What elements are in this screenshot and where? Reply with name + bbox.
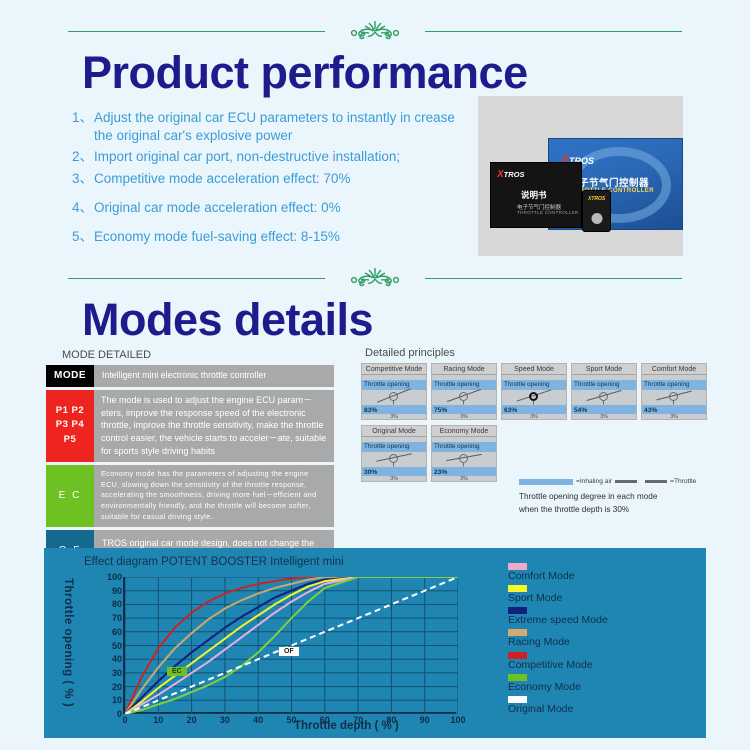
principle-card: Competitive ModeThrottle opening83%3%: [361, 363, 427, 420]
principle-card-title: Comfort Mode: [642, 364, 706, 375]
page-title: Product performance: [68, 50, 750, 95]
throttle-opening-percent: 23%: [434, 469, 447, 476]
legend-label: Economy Mode: [508, 681, 698, 694]
throttle-valve-icon: [599, 392, 608, 401]
mode-detailed-label: MODE DETAILED: [62, 349, 151, 361]
chart-curves: [125, 577, 458, 714]
bullet-number: 3、: [72, 170, 94, 188]
principle-cards: Competitive ModeThrottle opening83%3%Rac…: [361, 363, 707, 487]
chart-y-tick: 20: [112, 682, 122, 692]
principle-card: Economy ModeThrottle opening23%3%: [431, 425, 497, 482]
product-device-unit: XTROS: [582, 190, 611, 232]
throttle-opening-label: Throttle opening: [364, 443, 410, 450]
chart-annotation-ec: EC: [167, 667, 187, 676]
throttle-opening-percent: 83%: [364, 407, 377, 414]
chart-x-tick: 100: [450, 715, 465, 725]
throttle-opening-label: Throttle opening: [434, 443, 480, 450]
bullet-text: Competitive mode acceleration effect: 70…: [94, 170, 350, 188]
page-title-wrap: Product performance: [68, 50, 750, 95]
principle-card: Racing ModeThrottle opening75%3%: [431, 363, 497, 420]
chart-plot-area: 0102030405060708090100010203040506070809…: [123, 577, 456, 714]
chart-y-tick: 100: [107, 572, 122, 582]
mode-key-p-line1: P1 P2: [56, 404, 84, 419]
legend-label: Sport Mode: [508, 592, 698, 605]
legend-color-swatch-icon: [508, 585, 527, 592]
product-manual: XTROS 说明书 电子节气门控制器 THROTTLE CONTROLLER: [490, 162, 582, 228]
principle-card-body: Throttle opening23%3%: [432, 437, 496, 481]
chart-legend-item: Economy Mode: [508, 674, 698, 694]
principle-legend-row: =Inhaling air =Throttle: [519, 478, 734, 485]
throttle-depth-label: 3%: [460, 414, 468, 420]
throttle-label: =Throttle: [670, 478, 696, 485]
throttle-opening-percent: 54%: [574, 407, 587, 414]
principle-caption-line1: Throttle opening degree in each mode: [519, 490, 734, 503]
list-item: 1、 Adjust the original car ECU parameter…: [72, 109, 472, 145]
principle-legend: =Inhaling air =Throttle Throttle opening…: [519, 478, 734, 516]
chart-x-axis-label: Throttle depth ( % ): [294, 720, 399, 732]
manual-brand-logo: XTROS: [497, 169, 525, 180]
chart-x-tick: 30: [220, 715, 230, 725]
throttle-opening-label: Throttle opening: [574, 381, 620, 388]
chart-y-tick: 30: [112, 668, 122, 678]
chart-y-tick: 70: [112, 613, 122, 623]
principle-card-body: Throttle opening63%3%: [502, 375, 566, 419]
chart-x-tick: 20: [187, 715, 197, 725]
bullet-number: 5、: [72, 228, 94, 246]
principle-card-row-2: Original ModeThrottle opening30%3%Econom…: [361, 425, 707, 482]
chart-legend-item: Original Mode: [508, 696, 698, 716]
throttle-opening-percent: 63%: [504, 407, 517, 414]
throttle-valve-icon: [459, 392, 468, 401]
legend-color-swatch-icon: [508, 696, 527, 703]
chart-x-tick: 40: [253, 715, 263, 725]
principle-card-body: Throttle opening54%3%: [572, 375, 636, 419]
detailed-principles-label: Detailed principles: [365, 347, 455, 359]
throttle-valve-icon: [459, 454, 468, 463]
chart-y-tick: 60: [112, 627, 122, 637]
throttle-depth-label: 3%: [390, 414, 398, 420]
throttle-valve-icon: [389, 454, 398, 463]
throttle-opening-label: Throttle opening: [644, 381, 690, 388]
principle-card-title: Speed Mode: [502, 364, 566, 375]
box-title-cn: 电子节气门控制器: [569, 175, 678, 189]
list-item: 3、 Competitive mode acceleration effect:…: [72, 170, 472, 188]
inhaling-air-swatch-icon: [519, 479, 573, 485]
device-button-icon: [591, 213, 602, 224]
list-item: 4、 Original car mode acceleration effect…: [72, 199, 472, 217]
legend-label: Comfort Mode: [508, 570, 698, 583]
mode-value-mode: Intelligent mini electronic throttle con…: [94, 365, 334, 387]
chart-y-tick: 0: [117, 709, 122, 719]
table-row: E C Economy mode has the parameters of a…: [46, 465, 334, 527]
section-divider-top: [68, 18, 682, 42]
chart-y-axis-label: Throttle opening ( % ): [62, 578, 74, 714]
mode-key-mode: MODE: [46, 365, 94, 387]
chart-y-tick: 40: [112, 654, 122, 664]
principle-card-title: Competitive Mode: [362, 364, 426, 375]
chart-x-tick: 0: [122, 715, 127, 725]
mode-key-p-line3: P5: [56, 433, 84, 448]
principle-card: Comfort ModeThrottle opening43%3%: [641, 363, 707, 420]
principle-card-body: Throttle opening83%3%: [362, 375, 426, 419]
flourish-ornament-icon: [325, 18, 425, 46]
chart-legend-item: Competitive Mode: [508, 652, 698, 672]
chart-y-tick: 10: [112, 695, 122, 705]
throttle-opening-label: Throttle opening: [434, 381, 480, 388]
chart-annotation-of: OF: [279, 647, 299, 656]
mode-key-p-line2: P3 P4: [56, 418, 84, 433]
table-row: P1 P2 P3 P4 P5 The mode is used to adjus…: [46, 390, 334, 462]
bullet-text: Original car mode acceleration effect: 0…: [94, 199, 341, 217]
throttle-opening-label: Throttle opening: [364, 381, 410, 388]
chart-legend: Comfort ModeSport ModeExtreme speed Mode…: [508, 563, 698, 718]
principle-card-body: Throttle opening30%3%: [362, 437, 426, 481]
principle-caption-line2: when the throttle depth is 30%: [519, 503, 734, 516]
throttle-opening-percent: 43%: [644, 407, 657, 414]
chart-legend-item: Extreme speed Mode: [508, 607, 698, 627]
principle-card: Sport ModeThrottle opening54%3%: [571, 363, 637, 420]
principle-card-title: Racing Mode: [432, 364, 496, 375]
legend-label: Extreme speed Mode: [508, 614, 698, 627]
legend-label: Competitive Mode: [508, 659, 698, 672]
principle-card-body: Throttle opening75%3%: [432, 375, 496, 419]
throttle-depth-label: 3%: [390, 476, 398, 482]
principle-card-body: Throttle opening43%3%: [642, 375, 706, 419]
throttle-opening-percent: 30%: [364, 469, 377, 476]
throttle-valve-icon: [669, 392, 678, 401]
chart-x-tick: 90: [420, 715, 430, 725]
throttle-depth-label: 3%: [600, 414, 608, 420]
principle-card-row-1: Competitive ModeThrottle opening83%3%Rac…: [361, 363, 707, 420]
throttle-valve-icon: [529, 392, 538, 401]
bullet-text: Import original car port, non-destructiv…: [94, 148, 400, 166]
device-brand-logo: XTROS: [588, 196, 605, 202]
legend-label: Original Mode: [508, 703, 698, 716]
chart-legend-item: Racing Mode: [508, 629, 698, 649]
principle-card: Original ModeThrottle opening30%3%: [361, 425, 427, 482]
throttle-valve-icon: [389, 392, 398, 401]
inhaling-air-label: =Inhaling air: [576, 478, 612, 485]
principle-card-title: Original Mode: [362, 426, 426, 437]
performance-bullet-list: 1、 Adjust the original car ECU parameter…: [72, 109, 472, 246]
principle-caption: Throttle opening degree in each mode whe…: [519, 490, 734, 516]
throttle-depth-label: 3%: [460, 476, 468, 482]
principle-card-title: Sport Mode: [572, 364, 636, 375]
section-divider-modes: [68, 265, 682, 289]
legend-color-swatch-icon: [508, 629, 527, 636]
mode-key-ec: E C: [46, 465, 94, 527]
mode-key-p: P1 P2 P3 P4 P5: [46, 390, 94, 462]
modes-title: Modes details: [68, 297, 750, 342]
bullet-number: 2、: [72, 148, 94, 166]
principle-card: Speed ModeThrottle opening63%3%: [501, 363, 567, 420]
modes-details-section: Modes details MODE DETAILED Detailed pri…: [0, 265, 750, 342]
legend-color-swatch-icon: [508, 607, 527, 614]
chart-legend-item: Comfort Mode: [508, 563, 698, 583]
chart-legend-item: Sport Mode: [508, 585, 698, 605]
bullet-number: 4、: [72, 199, 94, 217]
flourish-ornament-icon: [325, 265, 425, 293]
legend-color-swatch-icon: [508, 652, 527, 659]
legend-label: Racing Mode: [508, 636, 698, 649]
mode-detail-table: MODE Intelligent mini electronic throttl…: [46, 365, 334, 574]
modes-title-wrap: Modes details: [68, 297, 750, 342]
manual-title-cn: 说明书: [521, 189, 547, 201]
throttle-opening-percent: 75%: [434, 407, 447, 414]
chart-y-tick: 50: [112, 641, 122, 651]
chart-title: Effect diagram POTENT BOOSTER Intelligen…: [84, 556, 344, 568]
throttle-depth-label: 3%: [530, 414, 538, 420]
mode-value-p: The mode is used to adjust the engine EC…: [94, 390, 334, 462]
list-item: 2、 Import original car port, non-destruc…: [72, 148, 472, 166]
mode-value-ec: Economy mode has the parameters of adjus…: [94, 465, 334, 527]
chart-x-tick: 10: [153, 715, 163, 725]
legend-color-swatch-icon: [508, 674, 527, 681]
list-item: 5、 Economy mode fuel-saving effect: 8-15…: [72, 228, 472, 246]
legend-color-swatch-icon: [508, 563, 527, 570]
bullet-text: Economy mode fuel-saving effect: 8-15%: [94, 228, 340, 246]
principle-card-title: Economy Mode: [432, 426, 496, 437]
chart-y-tick: 90: [112, 586, 122, 596]
throttle-swatch-icon: [615, 480, 667, 483]
chart-y-tick: 80: [112, 599, 122, 609]
bullet-number: 1、: [72, 109, 94, 145]
throttle-depth-label: 3%: [670, 414, 678, 420]
throttle-opening-label: Throttle opening: [504, 381, 550, 388]
bullet-text: Adjust the original car ECU parameters t…: [94, 109, 472, 145]
table-row: MODE Intelligent mini electronic throttl…: [46, 365, 334, 387]
product-photo: XTROS 电子节气门控制器 THROTTLE CONTROLLER XTROS…: [478, 96, 683, 256]
manual-subtitle-en: THROTTLE CONTROLLER: [517, 210, 578, 215]
